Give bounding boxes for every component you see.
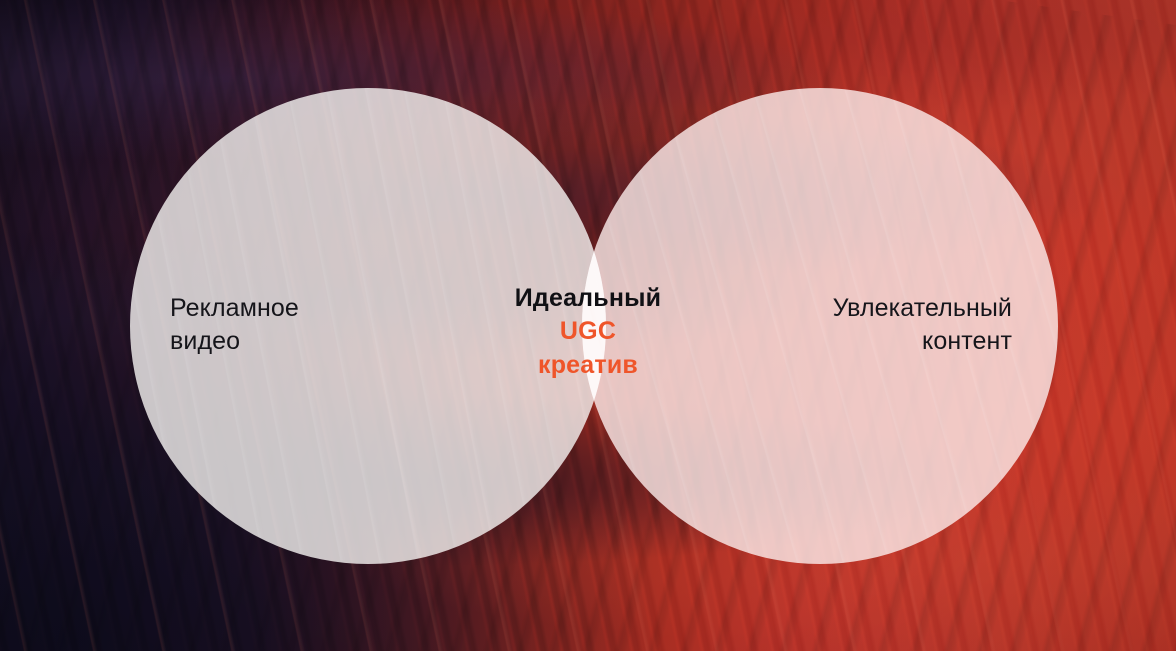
intersection-line-2-ugc: UGC (455, 315, 721, 348)
venn-right-label: Увлекательный контент (760, 292, 1012, 357)
venn-intersection-label: Идеальный UGC креатив (455, 282, 721, 382)
intersection-line-1: Идеальный (455, 282, 721, 315)
slide-canvas: Рекламное видео Увлекательный контент Ид… (0, 0, 1176, 651)
intersection-line-3: креатив (455, 349, 721, 382)
venn-left-label: Рекламное видео (170, 292, 430, 357)
